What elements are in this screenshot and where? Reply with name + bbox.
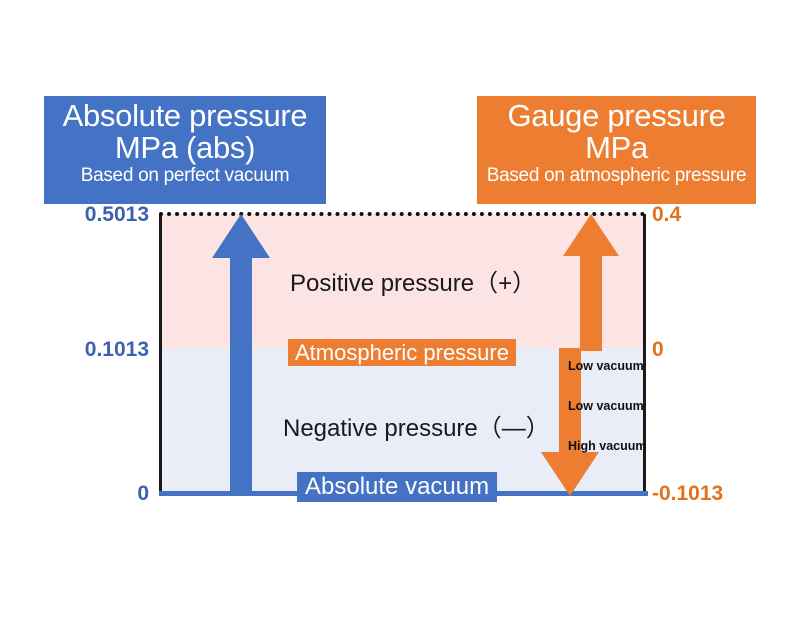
legend-gauge-unit: MPa [477,132,756,164]
axis-line-left [159,214,162,495]
legend-absolute-pressure: Absolute pressure MPa (abs) Based on per… [44,96,326,204]
tick-left-zero: 0 [137,482,149,506]
pressure-scale-diagram: Absolute pressure MPa (abs) Based on per… [0,0,800,641]
label-positive-pressure: Positive pressure（+） [290,263,536,298]
legend-absolute-unit: MPa (abs) [44,132,326,164]
vacuum-level-item: Low vacuum [568,396,646,416]
legend-absolute-title: Absolute pressure [44,100,326,132]
label-absolute-vacuum: Absolute vacuum [297,472,497,502]
tick-right-top: 0.4 [652,203,681,227]
label-negative-pressure: Negative pressure（—） [283,408,550,443]
legend-gauge-basis: Based on atmospheric pressure [477,166,756,186]
tick-left-top: 0.5013 [85,203,149,227]
vacuum-scale: Low vacuum Low vacuum High vacuum [568,356,646,466]
label-atmospheric-pressure: Atmospheric pressure [288,339,516,366]
tick-right-zero: 0 [652,338,664,362]
legend-gauge-title: Gauge pressure [477,100,756,132]
arrow-absolute-pressure-up [212,214,270,495]
tick-right-bottom: -0.1013 [652,482,723,506]
legend-absolute-basis: Based on perfect vacuum [44,166,326,186]
arrow-gauge-positive-up [563,214,619,351]
vacuum-level-item: Low vacuum [568,356,646,376]
legend-gauge-pressure: Gauge pressure MPa Based on atmospheric … [477,96,756,204]
vacuum-level-item: High vacuum [568,436,646,456]
tick-left-atmospheric: 0.1013 [85,338,149,362]
